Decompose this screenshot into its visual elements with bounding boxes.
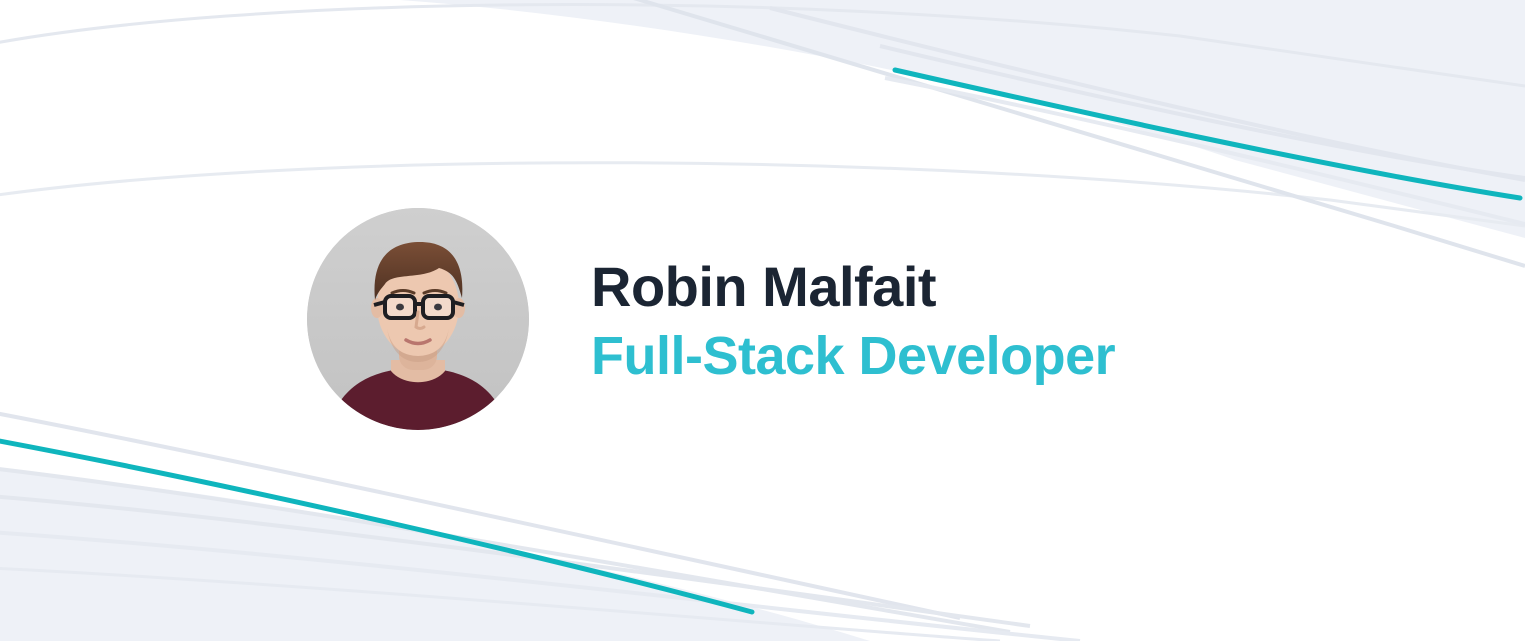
accent-line-right-4 xyxy=(885,78,1525,224)
accent-line-teal-bottom xyxy=(0,440,752,612)
accent-line-left-3 xyxy=(0,496,1030,626)
profile-content: Robin Malfait Full-Stack Developer xyxy=(307,208,1115,430)
person-role: Full-Stack Developer xyxy=(591,329,1115,383)
accent-line-right-2 xyxy=(770,8,1525,180)
accent-line-left-1 xyxy=(0,412,960,618)
identity-block: Robin Malfait Full-Stack Developer xyxy=(591,259,1115,383)
accent-line-right-3 xyxy=(880,46,1525,178)
profile-banner: Robin Malfait Full-Stack Developer xyxy=(0,0,1525,641)
tint-shape-top-right xyxy=(400,0,1525,238)
avatar xyxy=(307,208,529,430)
accent-line-teal-top xyxy=(895,70,1520,198)
tint-shape-bottom-left xyxy=(0,470,870,641)
accent-line-left-5 xyxy=(0,568,1000,641)
accent-line-left-2 xyxy=(0,468,1010,632)
accent-curve-top-1 xyxy=(0,5,1525,86)
accent-line-left-4 xyxy=(0,532,1080,641)
person-name: Robin Malfait xyxy=(591,259,1115,315)
avatar-photo xyxy=(307,208,529,430)
